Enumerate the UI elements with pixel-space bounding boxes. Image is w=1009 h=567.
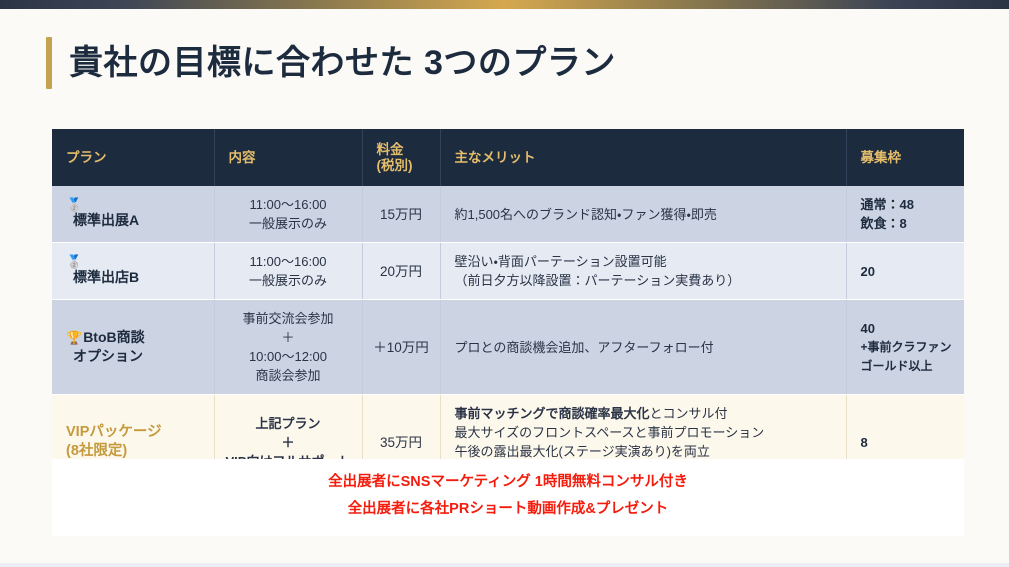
cell-price: ＋10万円 xyxy=(362,300,440,395)
slots-line: 通常：48 xyxy=(861,195,955,214)
content-line: 商談会参加 xyxy=(255,368,320,383)
column-header-slots: 募集枠 xyxy=(846,129,964,186)
plans-table-card: プラン 内容 料金 (税別) 主なメリット 募集枠 🥈 標準出展A xyxy=(52,129,964,490)
cell-plan: 🏆BtoB商談 オプション xyxy=(52,300,214,395)
cell-plan: 🥈 標準出展A xyxy=(52,186,214,243)
table-body: 🥈 標準出展A 11:00〜16:00 一般展示のみ 15万円 約1,500名へ… xyxy=(52,186,964,490)
column-header-content: 内容 xyxy=(214,129,362,186)
content-line: 11:00〜16:00 xyxy=(249,197,326,212)
table-row: 🥈 標準出店B 11:00〜16:00 一般展示のみ 20万円 壁沿い・背面パー… xyxy=(52,243,964,300)
merit-line: 最大サイズのフロントスペースと事前プロモーション xyxy=(455,423,836,442)
bottom-edge xyxy=(0,563,1009,567)
cell-price: 20万円 xyxy=(362,243,440,300)
plan-name-line1: 🏆BtoB商談 xyxy=(66,328,204,347)
note-line-2: 全出展者に各社PRショート動画作成&プレゼント xyxy=(52,496,964,523)
page-title: 貴社の目標に合わせた 3つのプラン xyxy=(46,37,616,89)
cell-price: 15万円 xyxy=(362,186,440,243)
cell-plan: 🥈 標準出店B xyxy=(52,243,214,300)
cell-merit: 壁沿い・背面パーテーション設置可能 （前日夕方以降設置：パーテーション実費あり） xyxy=(440,243,846,300)
content-line: ＋ xyxy=(281,330,294,345)
top-accent-bar xyxy=(0,0,1009,9)
slots-line: 8 xyxy=(861,433,955,452)
plan-name: 標準出展A xyxy=(66,211,204,230)
page-title-text: 貴社の目標に合わせた 3つのプラン xyxy=(69,37,616,89)
table-header-row: プラン 内容 料金 (税別) 主なメリット 募集枠 xyxy=(52,129,964,186)
merit-line-normal: とコンサル付 xyxy=(650,406,728,421)
cell-content: 事前交流会参加 ＋ 10:00〜12:00 商談会参加 xyxy=(214,300,362,395)
plans-table: プラン 内容 料金 (税別) 主なメリット 募集枠 🥈 標準出展A xyxy=(52,129,964,490)
cell-content: 11:00〜16:00 一般展示のみ xyxy=(214,186,362,243)
table-row: 🏆BtoB商談 オプション 事前交流会参加 ＋ 10:00〜12:00 商談会参… xyxy=(52,300,964,395)
column-header-price-line2: (税別) xyxy=(377,158,413,173)
medal-icon: 🥈 xyxy=(66,198,204,211)
merit-line-bold: 事前マッチングで商談確率最大化 xyxy=(455,406,650,421)
merit-line: （前日夕方以降設置：パーテーション実費あり） xyxy=(455,271,836,290)
cell-merit: プロとの商談機会追加、アフターフォロー付 xyxy=(440,300,846,395)
merit-line: プロとの商談機会追加、アフターフォロー付 xyxy=(455,338,836,357)
plan-name-line2: オプション xyxy=(66,347,204,366)
cell-slots: 40 +事前クラファン ゴールド以上 xyxy=(846,300,964,395)
plan-name: 標準出店B xyxy=(66,268,204,287)
trophy-icon: 🏆 xyxy=(66,330,82,345)
slots-line: ゴールド以上 xyxy=(861,357,955,376)
footer-notes: 全出展者にSNSマーケティング 1時間無料コンサル付き 全出展者に各社PRショー… xyxy=(52,459,964,536)
slide-root: 貴社の目標に合わせた 3つのプラン プラン 内容 料金 (税別) 主なメリット … xyxy=(0,0,1009,567)
cell-merit: 約1,500名へのブランド認知・ファン獲得・即売 xyxy=(440,186,846,243)
table-row: 🥈 標準出展A 11:00〜16:00 一般展示のみ 15万円 約1,500名へ… xyxy=(52,186,964,243)
column-header-merit: 主なメリット xyxy=(440,129,846,186)
plan-name-text: BtoB商談 xyxy=(83,329,144,345)
content-line: 一般展示のみ xyxy=(249,273,327,288)
content-line: 事前交流会参加 xyxy=(242,311,333,326)
slots-line: 40 xyxy=(861,319,955,338)
table-header: プラン 内容 料金 (税別) 主なメリット 募集枠 xyxy=(52,129,964,186)
merit-line-1: 事前マッチングで商談確率最大化とコンサル付 xyxy=(455,404,836,423)
cell-slots: 通常：48 飲食：8 xyxy=(846,186,964,243)
plan-name-line1: VIPパッケージ xyxy=(66,423,204,442)
content-line: 上記プラン xyxy=(255,416,320,431)
medal-icon: 🥈 xyxy=(66,255,204,268)
column-header-price: 料金 (税別) xyxy=(362,129,440,186)
content-line: ＋ xyxy=(281,435,294,450)
content-line: 一般展示のみ xyxy=(249,216,327,231)
cell-content: 11:00〜16:00 一般展示のみ xyxy=(214,243,362,300)
content-line: 11:00〜16:00 xyxy=(249,254,326,269)
title-accent-rule xyxy=(46,37,52,89)
cell-slots: 20 xyxy=(846,243,964,300)
content-line: 10:00〜12:00 xyxy=(249,349,327,364)
slots-line: 飲食：8 xyxy=(861,214,955,233)
column-header-price-line1: 料金 xyxy=(377,142,404,157)
merit-line: 約1,500名へのブランド認知・ファン獲得・即売 xyxy=(455,205,836,224)
merit-line: 壁沿い・背面パーテーション設置可能 xyxy=(455,252,836,271)
note-line-1: 全出展者にSNSマーケティング 1時間無料コンサル付き xyxy=(52,469,964,496)
column-header-plan: プラン xyxy=(52,129,214,186)
slots-line: +事前クラファン xyxy=(861,338,955,357)
slots-line: 20 xyxy=(861,262,955,281)
